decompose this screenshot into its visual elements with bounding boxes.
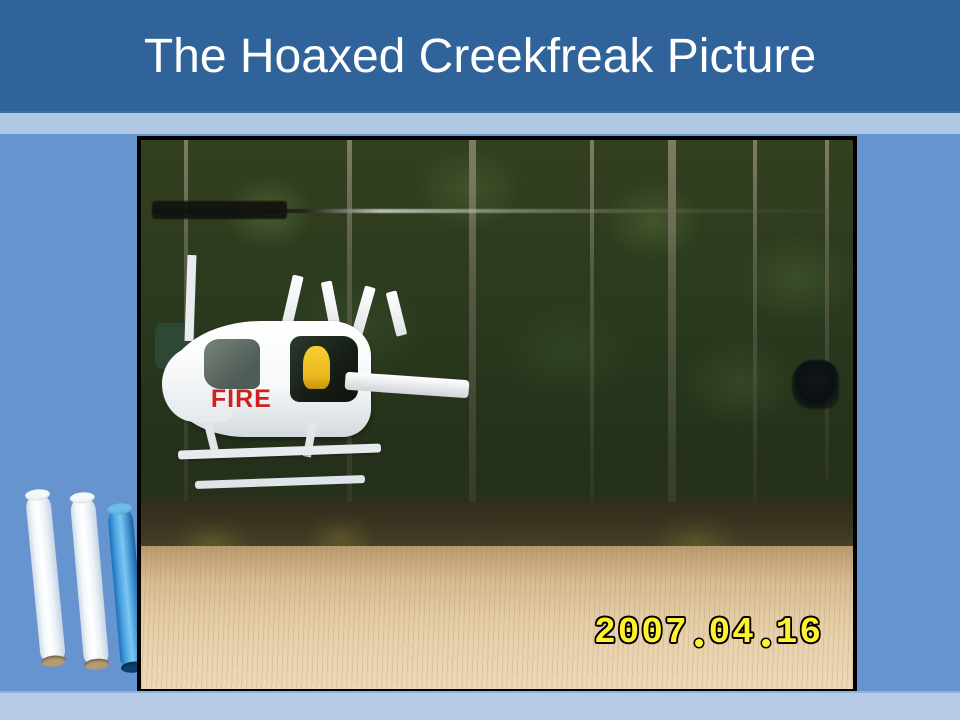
crew-member-yellow-suit bbox=[303, 346, 331, 389]
tree-trunk bbox=[753, 140, 757, 502]
helicopter-antenna bbox=[386, 290, 408, 337]
dark-figure bbox=[792, 360, 838, 409]
date-stamp-day: 16 bbox=[776, 615, 823, 651]
tree-trunk bbox=[825, 140, 829, 480]
slide: The Hoaxed Creekfreak Picture bbox=[0, 0, 960, 720]
tube-top-cap bbox=[107, 502, 133, 515]
helicopter-skid-lower bbox=[194, 475, 364, 489]
helicopter-windscreen bbox=[204, 339, 260, 390]
photo-frame[interactable]: FIRE 2007 04 16 bbox=[137, 136, 857, 693]
fire-helicopter: FIRE bbox=[155, 255, 483, 508]
rotor-hub bbox=[152, 201, 287, 219]
footer-band bbox=[0, 693, 960, 720]
date-separator-dot bbox=[695, 639, 703, 647]
date-stamp-year: 2007 bbox=[594, 615, 688, 651]
helicopter-mast bbox=[185, 255, 196, 341]
date-stamp: 2007 04 16 bbox=[594, 615, 823, 651]
photograph: FIRE 2007 04 16 bbox=[141, 140, 853, 689]
date-stamp-month: 04 bbox=[709, 615, 756, 651]
grass-shadow-edge bbox=[141, 502, 853, 546]
header-divider-band bbox=[0, 113, 960, 134]
date-separator-dot bbox=[762, 639, 770, 647]
tube-top-cap bbox=[69, 491, 95, 504]
page-title: The Hoaxed Creekfreak Picture bbox=[0, 28, 960, 86]
tree-trunk bbox=[590, 140, 594, 513]
helicopter-fire-marking: FIRE bbox=[211, 387, 272, 412]
